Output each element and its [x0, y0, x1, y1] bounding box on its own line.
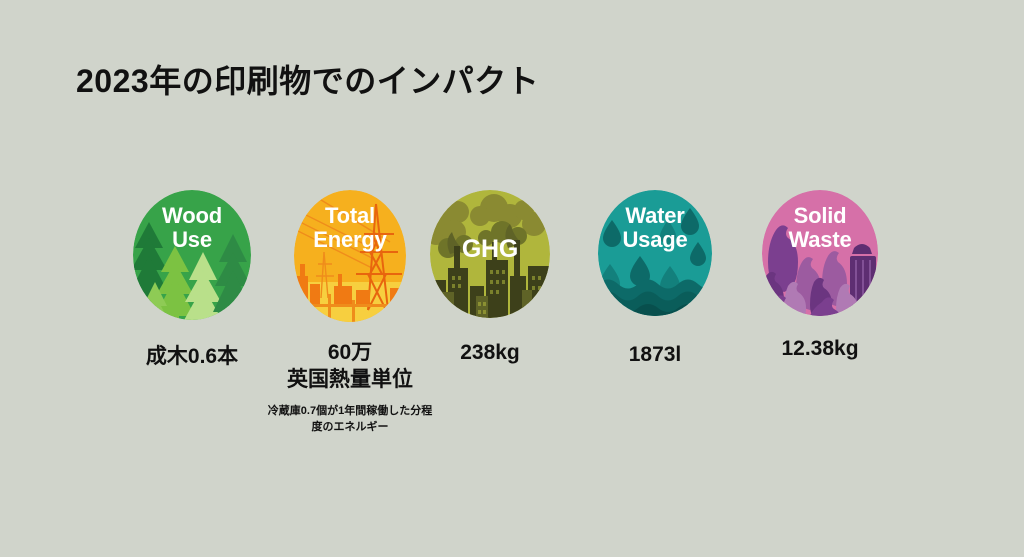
value-ghg: 238kg — [410, 340, 570, 367]
badge-label-solid-waste: Solid Waste — [762, 204, 878, 252]
metric-ghg[interactable]: GHG 238kg — [410, 190, 570, 367]
badge-ghg[interactable]: GHG — [430, 190, 550, 318]
metric-wood-use[interactable]: Wood Use 成木0.6本 — [112, 190, 272, 371]
page-title: 2023年の印刷物でのインパクト — [76, 56, 539, 102]
badge-solid-waste[interactable]: Solid Waste — [762, 190, 878, 316]
badge-wood-use[interactable]: Wood Use — [133, 190, 251, 320]
caption-total-energy: 冷蔵庫0.7個が1年間稼働した分程 度のエネルギー — [250, 404, 450, 436]
badge-label-wood-use: Wood Use — [133, 204, 251, 252]
badge-water-usage[interactable]: Water Usage — [598, 190, 712, 316]
badge-label-total-energy: Total Energy — [294, 204, 406, 252]
value-total-energy: 60万 英国熱量単位 — [270, 340, 430, 394]
metric-total-energy[interactable]: Total Energy 60万 英国熱量単位 冷蔵庫0.7個が1年間稼働した分… — [270, 190, 430, 436]
metric-solid-waste[interactable]: Solid Waste 12.38kg — [740, 190, 900, 363]
value-solid-waste: 12.38kg — [740, 336, 900, 363]
badge-label-water-usage: Water Usage — [598, 204, 712, 252]
metric-water-usage[interactable]: Water Usage 1873l — [575, 190, 735, 369]
badge-label-ghg: GHG — [430, 236, 550, 263]
value-wood-use: 成木0.6本 — [112, 344, 272, 371]
badge-total-energy[interactable]: Total Energy — [294, 190, 406, 322]
slide-canvas: 2023年の印刷物でのインパクト — [0, 0, 1024, 557]
value-water-usage: 1873l — [575, 342, 735, 369]
